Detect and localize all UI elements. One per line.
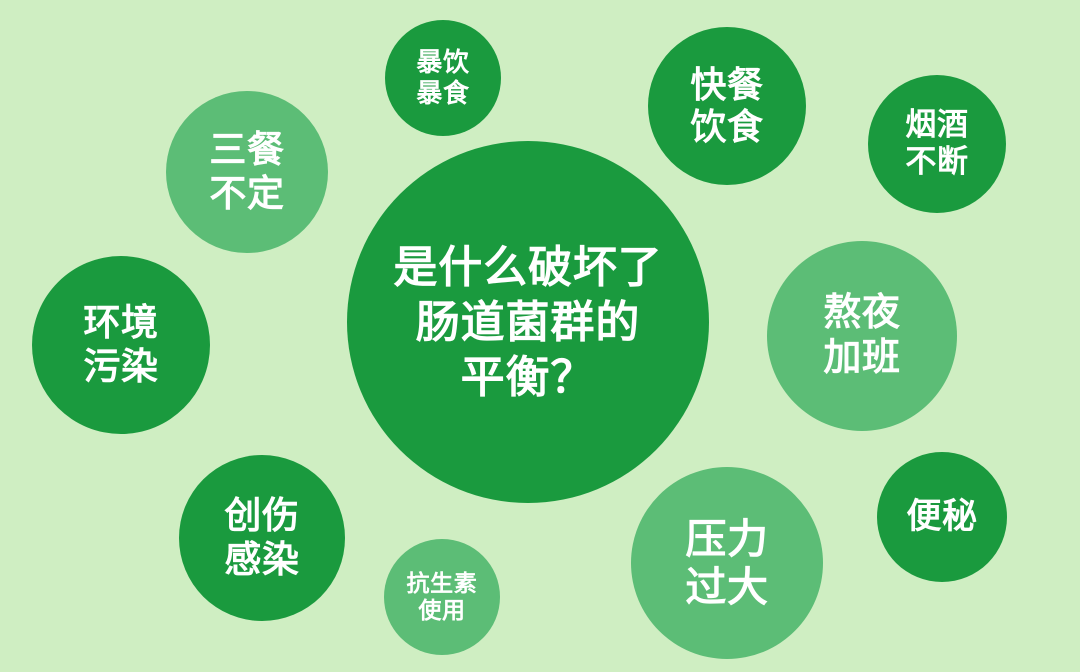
bubble-label-environmental-pollution: 环境 污染 [39, 301, 203, 388]
bubble-environmental-pollution: 环境 污染 [32, 256, 210, 434]
bubble-diagram-canvas: 是什么破坏了 肠道菌群的 平衡？ 三餐 不定 暴饮 暴食 快餐 饮食 烟酒 不断… [0, 0, 1080, 672]
bubble-label-fast-food: 快餐 饮食 [654, 64, 799, 149]
central-bubble-question: 是什么破坏了 肠道菌群的 平衡？ [347, 141, 709, 503]
bubble-label-binge-eating: 暴饮 暴食 [390, 47, 497, 108]
bubble-label-smoking-drinking: 烟酒 不断 [874, 107, 1001, 180]
bubble-label-constipation: 便秘 [882, 496, 1002, 537]
bubble-label-antibiotic-use: 抗生素 使用 [389, 570, 496, 624]
bubble-trauma-infection: 创伤 感染 [179, 455, 345, 621]
bubble-fast-food: 快餐 饮食 [648, 27, 806, 185]
bubble-constipation: 便秘 [877, 452, 1007, 582]
bubble-binge-eating: 暴饮 暴食 [385, 20, 501, 136]
bubble-label-staying-up-overtime: 熬夜 加班 [775, 291, 950, 381]
bubble-label-trauma-infection: 创伤 感染 [186, 494, 339, 581]
bubble-label-irregular-meals: 三餐 不定 [172, 128, 321, 215]
bubble-irregular-meals: 三餐 不定 [166, 91, 328, 253]
central-bubble-label: 是什么破坏了 肠道菌群的 平衡？ [361, 240, 694, 405]
bubble-antibiotic-use: 抗生素 使用 [384, 539, 500, 655]
bubble-staying-up-overtime: 熬夜 加班 [767, 241, 957, 431]
bubble-label-excessive-stress: 压力 过大 [639, 515, 816, 612]
bubble-excessive-stress: 压力 过大 [631, 467, 823, 659]
bubble-smoking-drinking: 烟酒 不断 [868, 75, 1006, 213]
